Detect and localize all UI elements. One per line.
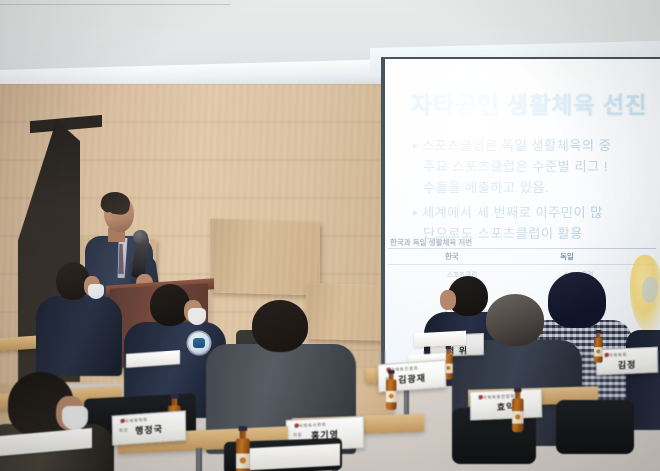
slide-bullet: 스포츠클럽은 독일 생활체육의 중 (413, 135, 660, 156)
bottle-cap (388, 370, 394, 374)
attendee-face (440, 290, 456, 310)
nameplate-name: 효익 (471, 398, 541, 414)
table-header-korea: 한국 (445, 251, 459, 262)
desk-leg (196, 448, 202, 471)
nameplate-name: 김정 (597, 357, 657, 373)
attendee-head (486, 294, 544, 346)
bullet-arrow-icon (413, 210, 418, 216)
table-rule (388, 264, 656, 265)
bottle-label (236, 454, 250, 469)
bottle-cap (596, 330, 601, 333)
wall-panel (210, 218, 320, 295)
bottle-label (594, 347, 603, 356)
wall-panel (306, 283, 392, 341)
bottle-cap (514, 388, 521, 392)
document-sheet (414, 331, 466, 348)
bullet-arrow-icon (413, 143, 418, 149)
ceiling-seam (0, 4, 230, 5)
slide-table-caption: 한국과 독일 생활체육 저변 (390, 237, 472, 248)
bottle-cap (171, 394, 179, 399)
slide-bullet-text: 스포츠클럽은 독일 생활체육의 중 (422, 138, 611, 153)
seminar-room-photo: 자타공인 생활체육 선진 스포츠클럽은 독일 생활체육의 중 주요 스포츠클럽은… (0, 0, 660, 471)
bottle-label (386, 391, 396, 402)
slide-bullet-list: 스포츠클럽은 독일 생활체육의 중 주요 스포츠클럽은 수준별 리그 ! 수들을… (413, 135, 660, 244)
bottle-cap (239, 426, 247, 431)
nameplate: 한국체육학회 회장 행정국 (112, 410, 187, 445)
table-header-germany: 독일 (560, 251, 574, 262)
table-rule (388, 248, 656, 249)
slide-title: 자타공인 생활체육 선진 (411, 86, 647, 120)
slide-bullet-text: 주요 스포츠클럽은 수준별 리그 ! (423, 159, 608, 174)
attendee-head (252, 300, 308, 352)
attendee-torso (36, 296, 122, 376)
slide-bullet: 수들을 배출하고 있음. (413, 177, 660, 198)
slide-bullet-text: 세계에서 세 번째로 이주민이 많 (422, 205, 603, 220)
slide-bullet-text: 수들을 배출하고 있음. (423, 180, 549, 195)
speaker-ear (106, 212, 113, 221)
organization-emblem-icon (188, 332, 210, 354)
nameplate: 한국체육회 김정 (596, 347, 658, 376)
face-mask (88, 284, 104, 299)
attendee-head (548, 272, 606, 328)
bottle-cap (446, 346, 451, 349)
bottle-label (512, 411, 524, 424)
face-mask (62, 406, 88, 430)
face-mask (188, 308, 206, 325)
seminar-chair (556, 400, 634, 454)
nameplate: 한국체육총연합회 효익 (470, 388, 542, 420)
slide-bullet: 주요 스포츠클럽은 수준별 리그 ! (413, 156, 660, 177)
slide-bullet: 세계에서 세 번째로 이주민이 많 (413, 202, 660, 223)
